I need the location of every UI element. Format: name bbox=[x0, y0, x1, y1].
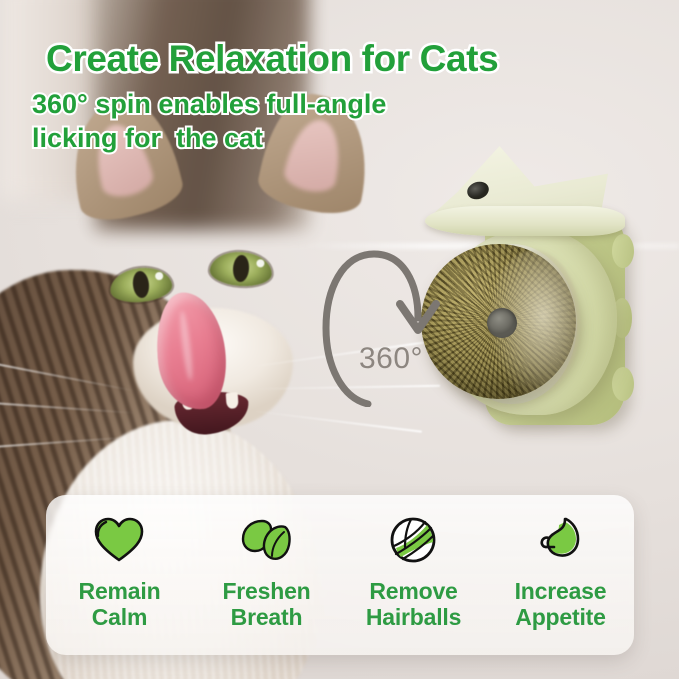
hairball-icon bbox=[387, 509, 439, 571]
rotation-indicator: 360° bbox=[318, 232, 448, 407]
feature-label: Increase Appetite bbox=[515, 579, 607, 631]
catnip-ball-center-dot bbox=[487, 308, 517, 338]
catnip-ball-device bbox=[415, 148, 645, 448]
feature-label: Freshen Breath bbox=[222, 579, 310, 631]
feature-increase-appetite: Increase Appetite bbox=[490, 509, 631, 631]
page-subtitle: 360° spin enables full-angle licking for… bbox=[32, 88, 652, 156]
cat-whiskers bbox=[25, 140, 315, 420]
stomach-icon bbox=[534, 509, 586, 571]
feature-remove-hairballs: Remove Hairballs bbox=[343, 509, 484, 631]
feature-remain-calm: Remain Calm bbox=[49, 509, 190, 631]
cat-head bbox=[25, 140, 315, 420]
rotation-label: 360° bbox=[336, 342, 446, 376]
page-title: Create Relaxation for Cats bbox=[46, 40, 646, 79]
mint-leaf-icon bbox=[238, 509, 294, 571]
feature-label: Remain Calm bbox=[79, 579, 161, 631]
heart-icon bbox=[92, 509, 146, 571]
rotation-arrow-icon bbox=[318, 232, 448, 407]
feature-label: Remove Hairballs bbox=[366, 579, 461, 631]
feature-benefits-card: Remain Calm Freshen Breath bbox=[46, 495, 634, 655]
device-head-brim bbox=[425, 206, 625, 236]
feature-freshen-breath: Freshen Breath bbox=[196, 509, 337, 631]
product-marketing-image: 360° Create Relaxation for Cats 360° spi… bbox=[0, 0, 679, 679]
